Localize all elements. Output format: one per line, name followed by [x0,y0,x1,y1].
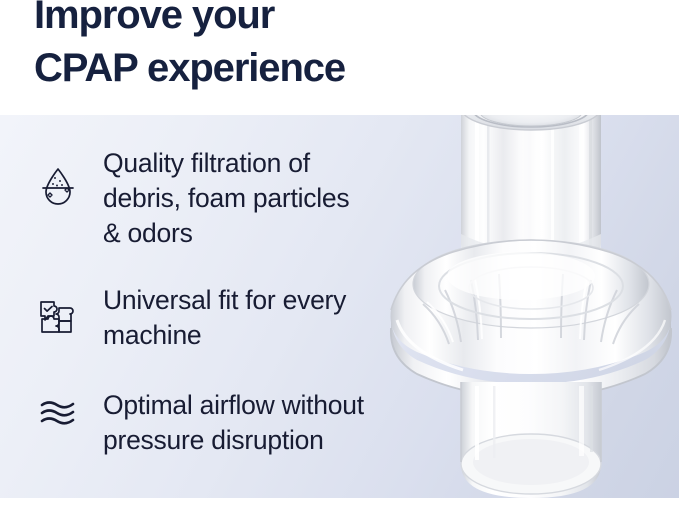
list-item: Optimal airflow without pressure disrupt… [30,388,364,458]
feature-list: Quality filtration of debris, foam parti… [0,115,470,498]
puzzle-pieces-check-icon [30,283,86,339]
page-title: Improve your CPAP experience [34,0,345,95]
bottom-white-strip [0,498,679,518]
heading-band: Improve your CPAP experience [0,0,679,115]
filter-droplet-icon [30,146,86,210]
list-item: Quality filtration of debris, foam parti… [30,146,349,251]
airflow-waves-icon [30,388,86,430]
feature-label: Universal fit for every machine [86,283,346,353]
feature-label: Optimal airflow without pressure disrupt… [86,388,364,458]
feature-label: Quality filtration of debris, foam parti… [86,146,349,251]
list-item: Universal fit for every machine [30,283,346,353]
cpap-promo-banner: Improve your CPAP experience Quality fil… [0,0,679,518]
